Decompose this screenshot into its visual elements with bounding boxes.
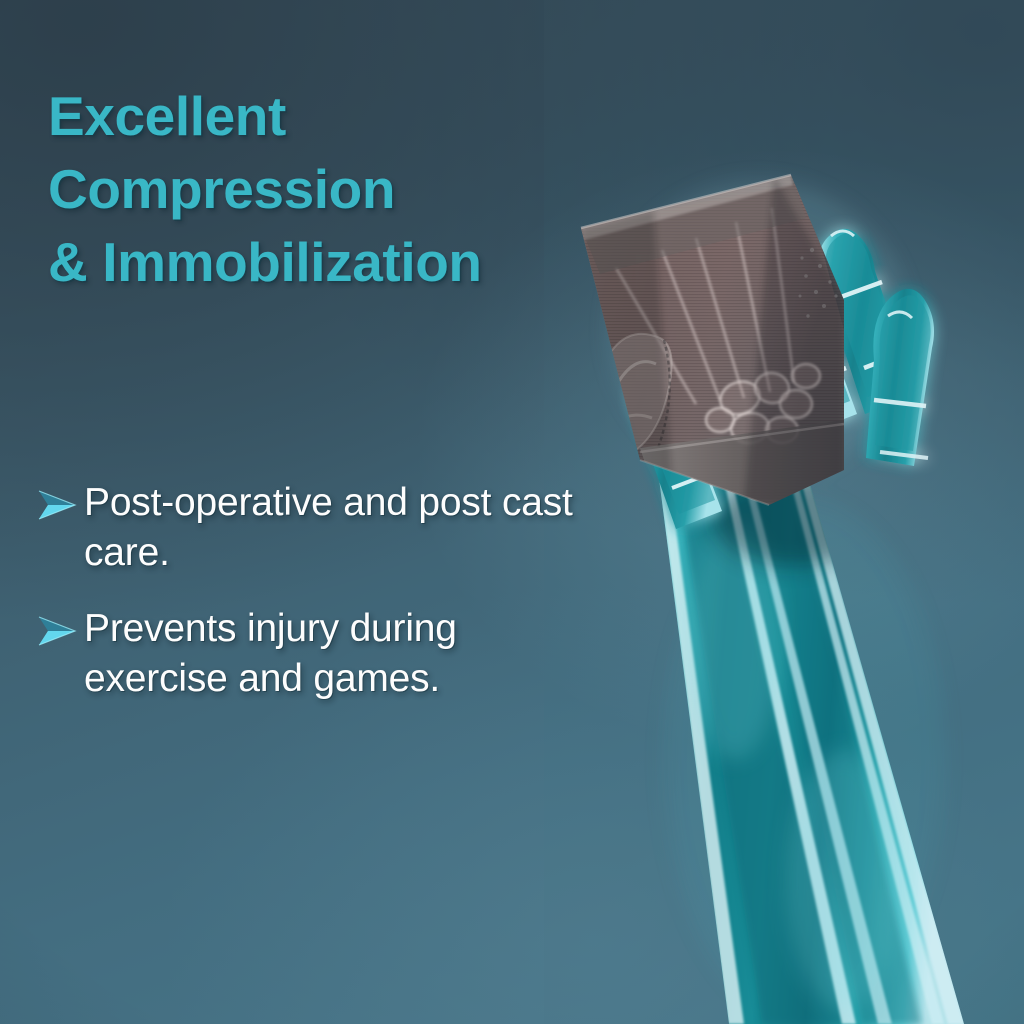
headline-line-1: Excellent: [48, 80, 588, 153]
list-item-label: Post-operative and post cast care.: [84, 478, 606, 578]
text-column: Excellent Compression & Immobilization P…: [0, 0, 620, 1024]
headline-line-3: & Immobilization: [48, 226, 588, 299]
list-item: Post-operative and post cast care.: [34, 478, 606, 578]
headline-line-2: Compression: [48, 153, 588, 226]
list-item: Prevents injury during exercise and game…: [34, 604, 606, 704]
list-item-label: Prevents injury during exercise and game…: [84, 604, 606, 704]
arrow-bullet-icon: [36, 488, 78, 522]
arrow-bullet-icon: [36, 614, 78, 648]
page-title: Excellent Compression & Immobilization: [48, 80, 588, 299]
product-feature-banner: Excellent Compression & Immobilization P…: [0, 0, 1024, 1024]
feature-list: Post-operative and post cast care. Preve…: [34, 478, 606, 730]
